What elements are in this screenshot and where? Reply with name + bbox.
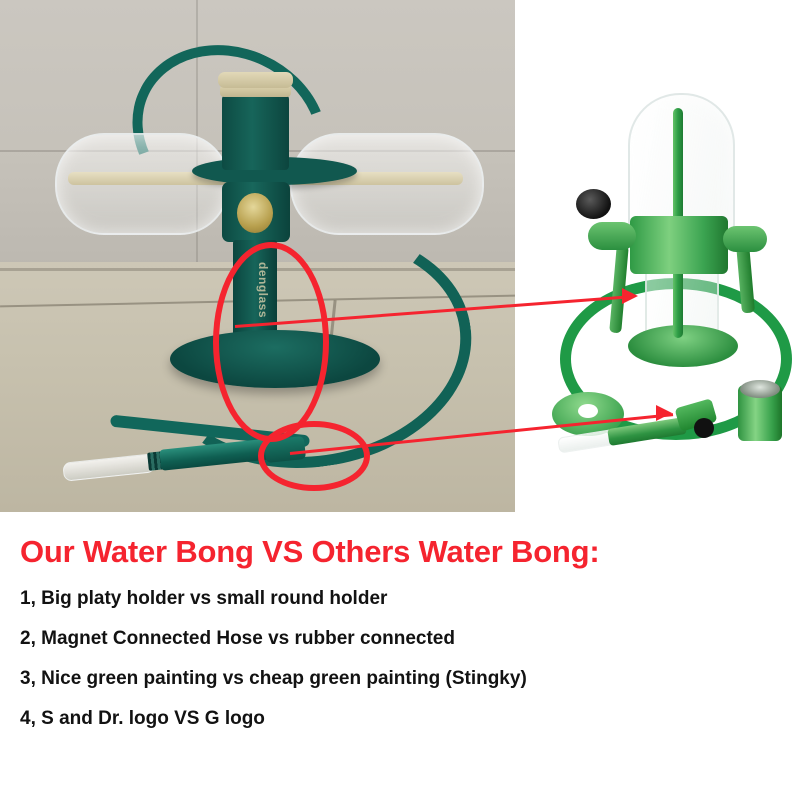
- competitor-rubber-grommet: [694, 418, 714, 438]
- bowl-cap-top: [218, 72, 293, 88]
- brand-emblem-logo: [237, 193, 273, 233]
- list-item: 1, Big platy holder vs small round holde…: [20, 588, 780, 610]
- photo-comparison-band: denglass: [0, 0, 800, 512]
- competitor-round-base: [628, 325, 738, 367]
- bowl-canister: [222, 95, 289, 170]
- callout-ellipse-stand: [213, 242, 329, 442]
- competitor-screen-mesh: [740, 380, 780, 398]
- competitor-black-bowl: [576, 189, 611, 219]
- competitor-center-collar: [630, 216, 728, 274]
- connector-arrow-head-2: [656, 405, 672, 421]
- comparison-infographic: denglass: [0, 0, 800, 800]
- list-item: 3, Nice green painting vs cheap green pa…: [20, 668, 780, 690]
- our-water-bong-photo: denglass: [0, 0, 515, 512]
- page-title: Our Water Bong VS Others Water Bong:: [20, 534, 600, 570]
- comparison-text-block: Our Water Bong VS Others Water Bong: 1, …: [0, 512, 800, 800]
- callout-ellipse-connector: [258, 421, 370, 491]
- competitor-right-arm: [723, 226, 767, 252]
- competitor-disc-hole: [578, 404, 598, 418]
- list-item: 2, Magnet Connected Hose vs rubber conne…: [20, 628, 780, 650]
- connector-arrow-head-1: [622, 288, 638, 304]
- competitor-left-arm: [588, 222, 636, 250]
- list-item: 4, S and Dr. logo VS G logo: [20, 708, 780, 730]
- comparison-list: 1, Big platy holder vs small round holde…: [20, 588, 780, 748]
